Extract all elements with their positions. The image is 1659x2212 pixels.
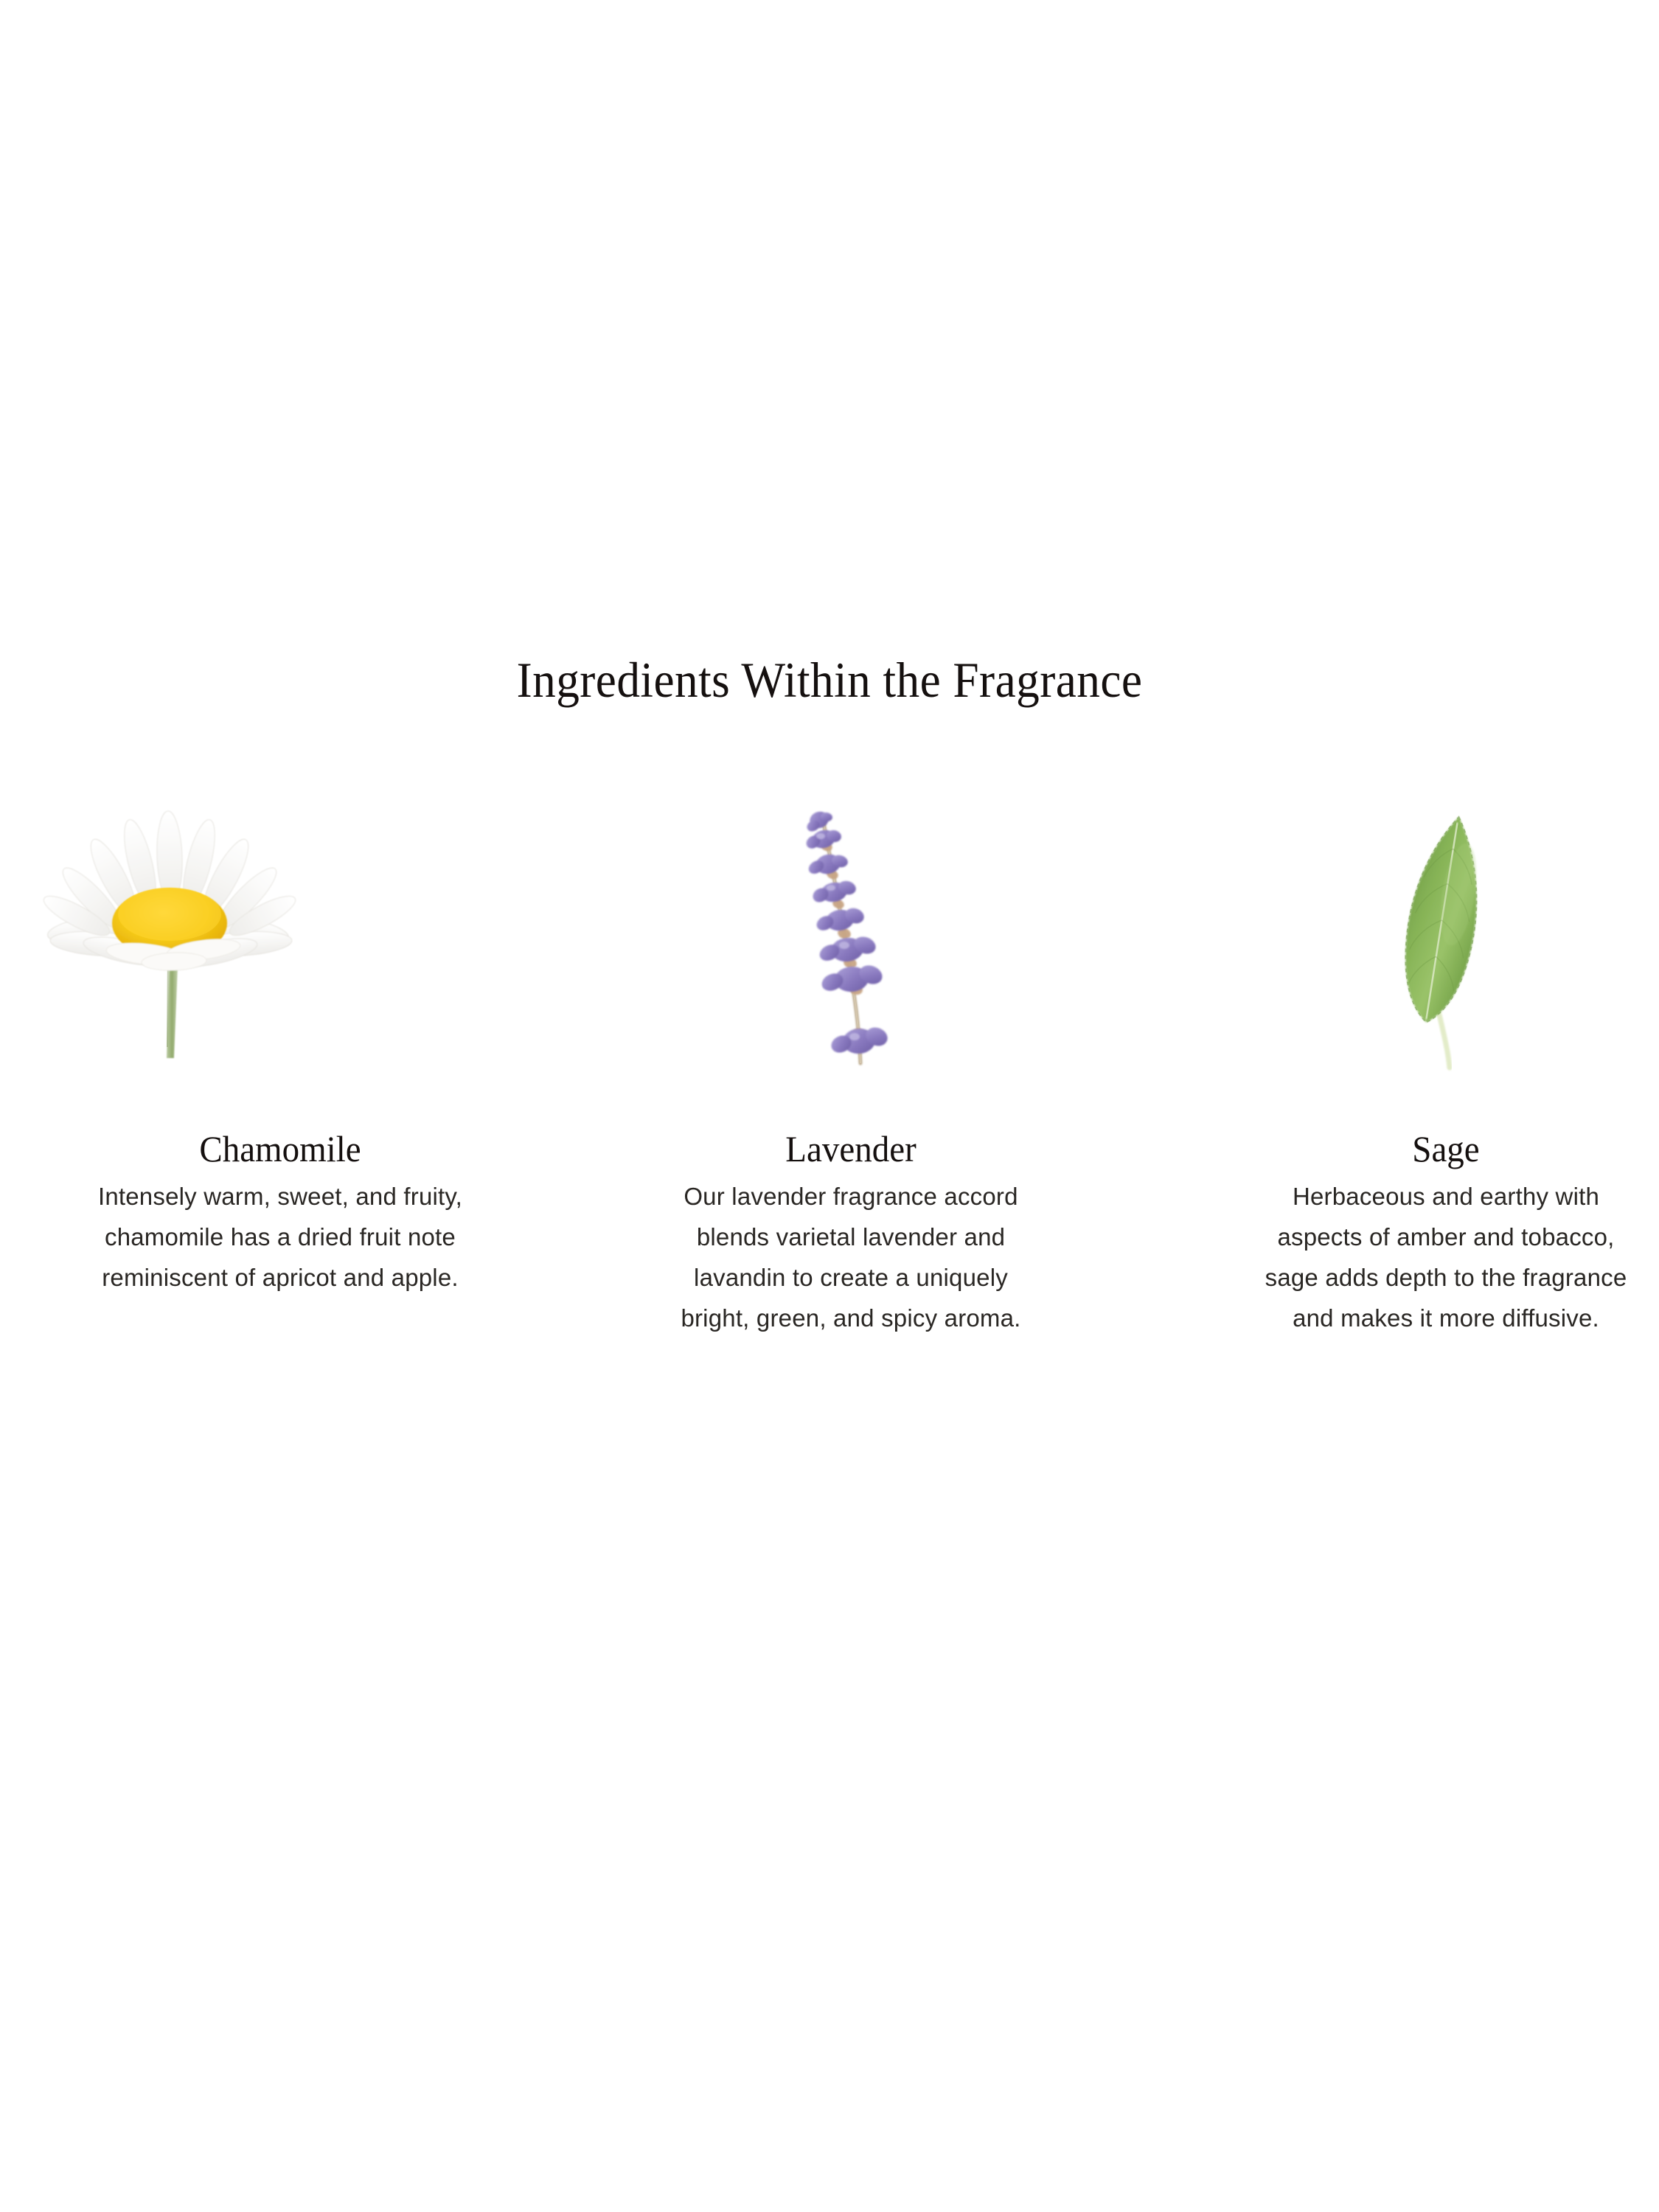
ingredient-name-chamomile: Chamomile <box>100 1130 461 1169</box>
ingredient-description-chamomile: Intensely warm, sweet, and fruity, chamo… <box>88 1176 472 1298</box>
ingredient-name-sage: Sage <box>1266 1130 1627 1169</box>
ingredient-card-chamomile: Chamomile Intensely warm, sweet, and fru… <box>0 804 553 1298</box>
lavender-sprig-icon <box>778 804 925 1099</box>
ingredient-card-lavender: Lavender Our lavender fragrance accord b… <box>553 804 1106 1338</box>
page-title: Ingredients Within the Fragrance <box>58 655 1601 705</box>
ingredient-card-sage: Sage Herbaceous and earthy with aspects … <box>1106 804 1659 1338</box>
ingredients-row: Chamomile Intensely warm, sweet, and fru… <box>0 804 1659 1338</box>
ingredient-description-lavender: Our lavender fragrance accord blends var… <box>678 1176 1024 1338</box>
ingredient-description-sage: Herbaceous and earthy with aspects of am… <box>1254 1176 1638 1338</box>
chamomile-flower-icon <box>22 804 332 1099</box>
sage-image-wrap <box>1047 804 1659 1113</box>
sage-leaf-icon <box>1357 804 1526 1099</box>
lavender-image-wrap <box>531 804 1128 1113</box>
ingredient-name-lavender: Lavender <box>688 1130 1014 1169</box>
page-background: Ingredients Within the Fragrance <box>0 0 1659 2212</box>
chamomile-image-wrap <box>0 804 575 1113</box>
